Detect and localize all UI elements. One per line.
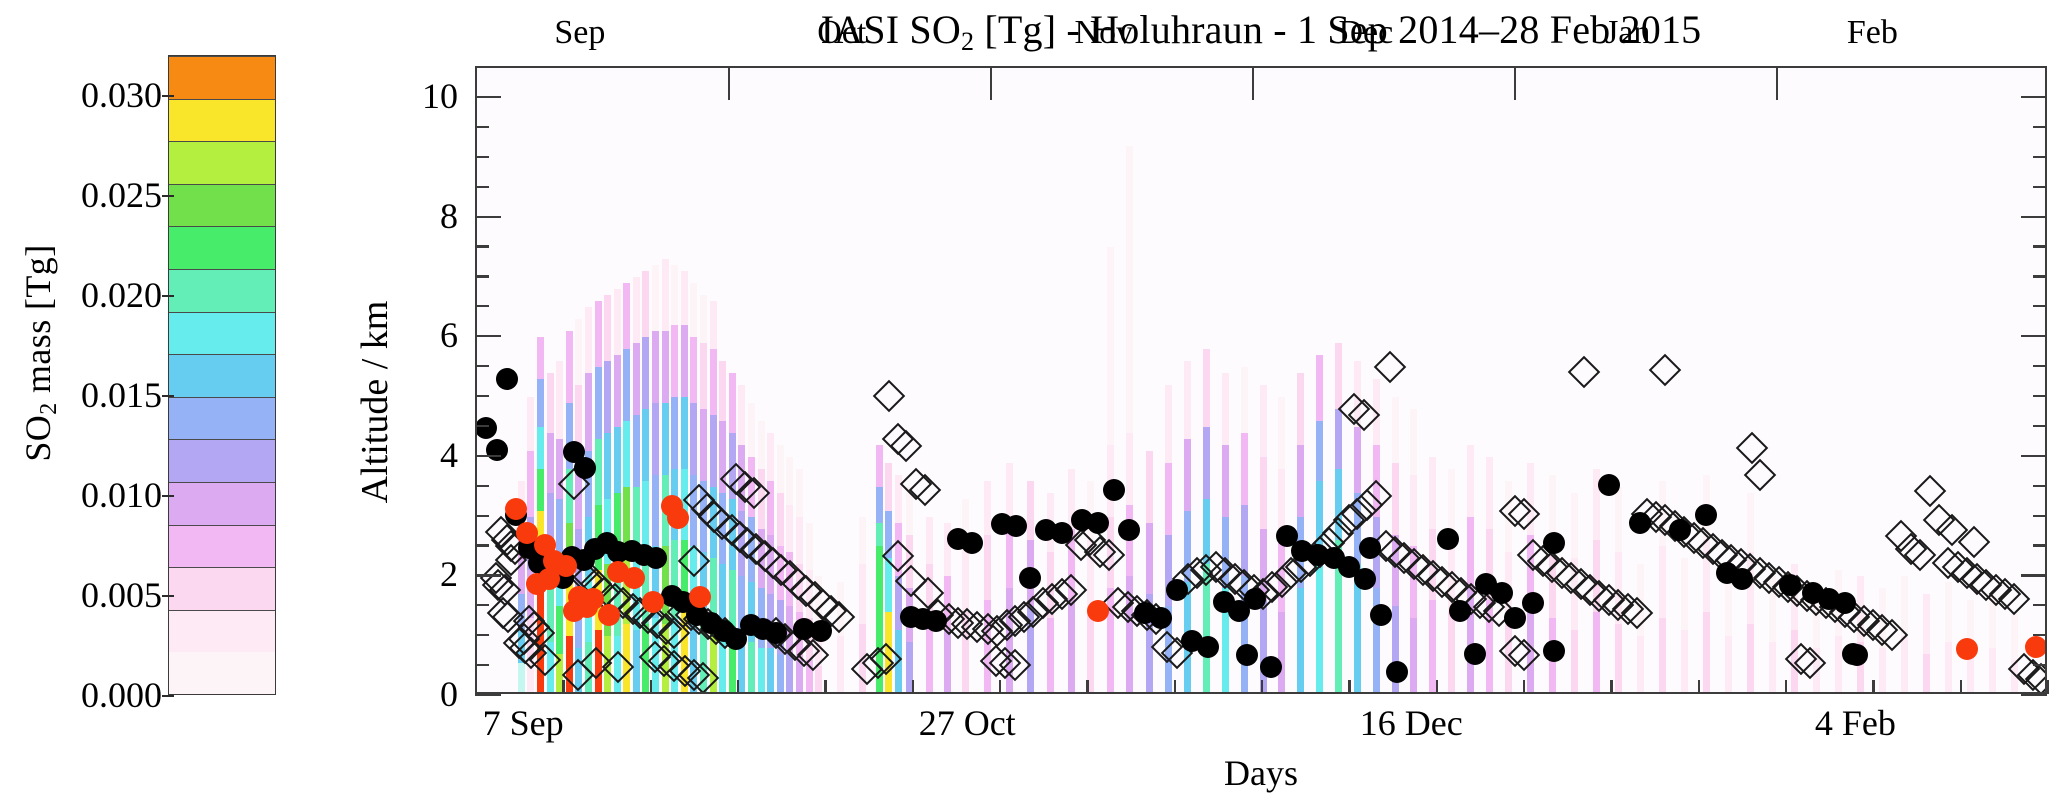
colorbar-band-12 [169, 141, 275, 184]
colorbar-tick-label-5: 0.025 [81, 177, 162, 213]
x-tick-label-2: 16 Dec [1360, 702, 1463, 744]
y-tick-label-8: 8 [440, 198, 458, 234]
marker-observation [475, 417, 497, 439]
y-minor-tick-left [475, 156, 489, 158]
marker-observation [645, 547, 667, 569]
y-minor-tick-left [475, 604, 489, 606]
y-minor-tick-right [2033, 245, 2047, 247]
marker-observation [1543, 640, 1565, 662]
y-minor-tick-left [475, 395, 489, 397]
colorbar-band-10 [169, 226, 275, 269]
marker-observation [1731, 568, 1753, 590]
x-tick-label-3: 4 Feb [1815, 702, 1896, 744]
marker-observation [1244, 588, 1266, 610]
colorbar-tick-mark-4 [162, 295, 174, 297]
x-minor-tick-bottom [475, 680, 477, 694]
y-minor-tick-left [475, 515, 489, 517]
y-minor-tick-left [475, 425, 489, 427]
y-minor-tick-right [2033, 544, 2047, 546]
y-major-tick-right [2021, 335, 2047, 337]
y-minor-tick-right [2033, 365, 2047, 367]
marker-observation [1779, 574, 1801, 596]
y-minor-tick-right [2033, 664, 2047, 666]
y-major-tick-left [475, 574, 501, 576]
marker-iasi-cm [1743, 458, 1776, 491]
y-minor-tick-left [475, 485, 489, 487]
marker-observation [496, 368, 518, 390]
marker-iasi-cm [602, 651, 635, 684]
marker-doas [1087, 600, 1109, 622]
colorbar-block: SO2 mass [Tg] 0.0000.0050.0100.0150.0200… [0, 0, 300, 792]
marker-iasi-cm [1736, 432, 1769, 465]
chart-title: IASI SO2 [Tg] - Holuhraun - 1 Sep 2014–2… [475, 6, 2047, 57]
y-minor-tick-right [2033, 395, 2047, 397]
x-minor-tick-bottom [650, 680, 652, 694]
y-minor-tick-left [475, 544, 489, 546]
x-minor-tick-bottom [1261, 680, 1263, 694]
month-label-jan: Jan [1605, 14, 1650, 52]
y-tick-label-4: 4 [440, 437, 458, 473]
x-minor-tick-bottom [824, 680, 826, 694]
x-minor-tick-bottom [1785, 680, 1787, 694]
marker-doas [642, 591, 664, 613]
y-minor-tick-right [2033, 425, 2047, 427]
y-minor-tick-right [2033, 126, 2047, 128]
colorbar-band-7 [169, 354, 275, 397]
colorbar-tick-labels: 0.0000.0050.0100.0150.0200.0250.030 [40, 40, 162, 720]
marker-doas [2025, 636, 2047, 658]
marker-observation [1491, 582, 1513, 604]
x-minor-tick-bottom [562, 680, 564, 694]
marker-observation [1846, 644, 1868, 666]
marker-observation [1118, 519, 1140, 541]
colorbar-band-11 [169, 184, 275, 227]
y-minor-tick-right [2033, 485, 2047, 487]
y-minor-tick-right [2033, 305, 2047, 307]
x-minor-tick-bottom [1698, 680, 1700, 694]
colorbar-tick-label-4: 0.020 [81, 277, 162, 313]
marker-observation [1504, 607, 1526, 629]
y-minor-tick-left [475, 275, 489, 277]
y-major-tick-right [2021, 694, 2047, 696]
plot-area[interactable]: IASI CM Observation DOAS [475, 66, 2047, 694]
month-label-feb: Feb [1847, 14, 1898, 52]
colorbar-band-13 [169, 99, 275, 142]
y-minor-tick-left [475, 664, 489, 666]
colorbar-tick-label-1: 0.005 [81, 577, 162, 613]
marker-doas [689, 586, 711, 608]
x-minor-tick-bottom [1174, 680, 1176, 694]
y-minor-tick-right [2033, 66, 2047, 68]
colorbar-tick-mark-1 [162, 595, 174, 597]
y-major-tick-right [2021, 216, 2047, 218]
x-minor-tick-bottom [1086, 680, 1088, 694]
marker-observation [1019, 567, 1041, 589]
x-tick-label-0: 7 Sep [483, 702, 564, 744]
marker-observation [1005, 515, 1027, 537]
marker-observation [961, 532, 983, 554]
x-minor-tick-bottom [1348, 680, 1350, 694]
y-minor-tick-right [2033, 186, 2047, 188]
marker-observation [1386, 661, 1408, 683]
colorbar-tick-label-3: 0.015 [81, 377, 162, 413]
y-minor-tick-right [2033, 515, 2047, 517]
chart-root: SO2 mass [Tg] 0.0000.0050.0100.0150.0200… [0, 0, 2067, 792]
y-major-tick-right [2021, 96, 2047, 98]
y-minor-tick-left [475, 66, 489, 68]
marker-doas [623, 567, 645, 589]
y-major-tick-left [475, 96, 501, 98]
x-minor-tick-bottom [999, 680, 1001, 694]
month-boundary-tick [1514, 66, 1516, 100]
marker-observation [1051, 522, 1073, 544]
marker-observation [1464, 643, 1486, 665]
marker-observation [1695, 504, 1717, 526]
y-tick-label-10: 10 [422, 78, 458, 114]
y-major-tick-left [475, 335, 501, 337]
marker-layer [477, 68, 2045, 692]
y-minor-tick-left [475, 186, 489, 188]
marker-observation [1359, 537, 1381, 559]
month-label-nov: Nov [1075, 14, 1134, 52]
marker-doas [538, 568, 560, 590]
colorbar-tick-label-6: 0.030 [81, 77, 162, 113]
x-minor-tick-bottom [1610, 680, 1612, 694]
x-minor-tick-bottom [1436, 680, 1438, 694]
month-boundary-tick [990, 66, 992, 100]
marker-observation [486, 439, 508, 461]
marker-observation [1354, 568, 1376, 590]
marker-iasi-cm [1567, 356, 1600, 389]
x-minor-tick-bottom [2047, 680, 2049, 694]
marker-observation [1522, 592, 1544, 614]
colorbar-band-0 [169, 652, 275, 694]
y-minor-tick-right [2033, 275, 2047, 277]
marker-observation [1669, 519, 1691, 541]
month-boundary-tick [728, 66, 730, 100]
x-minor-tick-bottom [1523, 680, 1525, 694]
month-label-oct: Oct [817, 14, 866, 52]
y-minor-tick-right [2033, 156, 2047, 158]
colorbar-band-9 [169, 269, 275, 312]
x-minor-tick-bottom [1872, 680, 1874, 694]
y-major-tick-left [475, 455, 501, 457]
marker-iasi-cm [1913, 475, 1946, 508]
marker-iasi-cm [678, 545, 711, 578]
y-major-tick-right [2021, 455, 2047, 457]
y-major-tick-right [2021, 574, 2047, 576]
marker-iasi-cm [1374, 351, 1407, 384]
marker-observation [1103, 479, 1125, 501]
colorbar-tick-label-0: 0.000 [81, 677, 162, 713]
y-minor-tick-left [475, 245, 489, 247]
marker-doas [667, 507, 689, 529]
colorbar-band-8 [169, 312, 275, 355]
colorbar-band-2 [169, 567, 275, 610]
x-minor-tick-bottom [737, 680, 739, 694]
y-major-tick-left [475, 694, 501, 696]
y-minor-tick-left [475, 365, 489, 367]
marker-observation [1543, 532, 1565, 554]
marker-observation [810, 620, 832, 642]
marker-observation [1260, 656, 1282, 678]
month-label-sep: Sep [554, 14, 605, 52]
y-tick-label-2: 2 [440, 556, 458, 592]
month-boundary-tick [1252, 66, 1254, 100]
month-label-dec: Dec [1338, 14, 1393, 52]
y-minor-tick-right [2033, 634, 2047, 636]
colorbar-tick-mark-5 [162, 195, 174, 197]
marker-observation [765, 622, 787, 644]
marker-observation [1166, 579, 1188, 601]
marker-observation [1236, 644, 1258, 666]
colorbar-gradient [168, 55, 276, 695]
marker-observation [1834, 592, 1856, 614]
x-minor-tick-bottom [912, 680, 914, 694]
colorbar-tick-mark-3 [162, 395, 174, 397]
marker-observation [1629, 512, 1651, 534]
colorbar-band-4 [169, 482, 275, 525]
marker-observation [1437, 528, 1459, 550]
y-tick-label-6: 6 [440, 317, 458, 353]
x-minor-tick-bottom [1960, 680, 1962, 694]
colorbar-band-1 [169, 610, 275, 653]
marker-doas [505, 498, 527, 520]
colorbar-tick-mark-6 [162, 95, 174, 97]
marker-iasi-cm [1649, 354, 1682, 387]
colorbar-tick-mark-2 [162, 495, 174, 497]
marker-observation [925, 610, 947, 632]
chart-title-sub: 2 [961, 27, 974, 56]
x-tick-labels: 7 Sep27 Oct16 Dec4 Feb [475, 702, 2047, 748]
y-minor-tick-left [475, 126, 489, 128]
colorbar-tick-label-2: 0.010 [81, 477, 162, 513]
y-minor-tick-right [2033, 604, 2047, 606]
x-axis-title: Days [475, 752, 2047, 794]
marker-observation [1087, 512, 1109, 534]
marker-observation [1197, 636, 1219, 658]
marker-observation [1449, 600, 1471, 622]
y-tick-label-0: 0 [440, 676, 458, 712]
marker-doas [598, 604, 620, 626]
marker-doas [1956, 638, 1978, 660]
colorbar-tick-mark-0 [162, 695, 174, 697]
marker-observation [1598, 474, 1620, 496]
y-minor-tick-left [475, 305, 489, 307]
y-tick-labels: 0246810 [380, 66, 458, 694]
colorbar-band-6 [169, 397, 275, 440]
colorbar-band-3 [169, 525, 275, 568]
marker-observation [1370, 604, 1392, 626]
colorbar-band-14 [169, 56, 275, 99]
x-tick-label-1: 27 Oct [919, 702, 1016, 744]
colorbar-band-5 [169, 439, 275, 482]
marker-observation [1150, 607, 1172, 629]
y-major-tick-left [475, 216, 501, 218]
y-minor-tick-left [475, 634, 489, 636]
month-boundary-tick [1776, 66, 1778, 100]
marker-observation [574, 457, 596, 479]
marker-iasi-cm [873, 379, 906, 412]
